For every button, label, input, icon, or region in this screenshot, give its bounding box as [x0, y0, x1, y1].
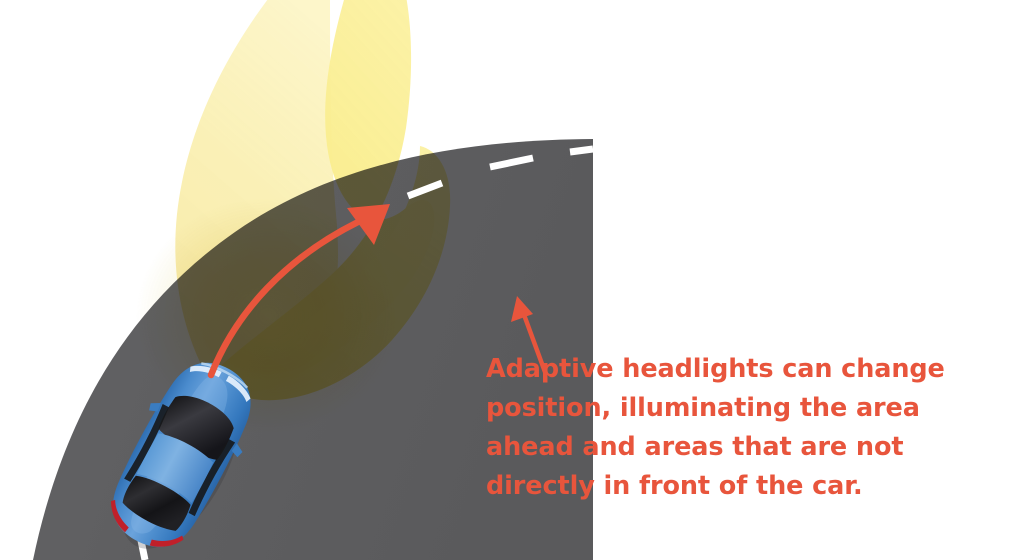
lane-dash-4 [570, 149, 593, 152]
adaptive-headlights-caption: Adaptive headlights can change position,… [486, 350, 956, 506]
illustration-stage: Adaptive headlights can change position,… [0, 0, 1024, 560]
